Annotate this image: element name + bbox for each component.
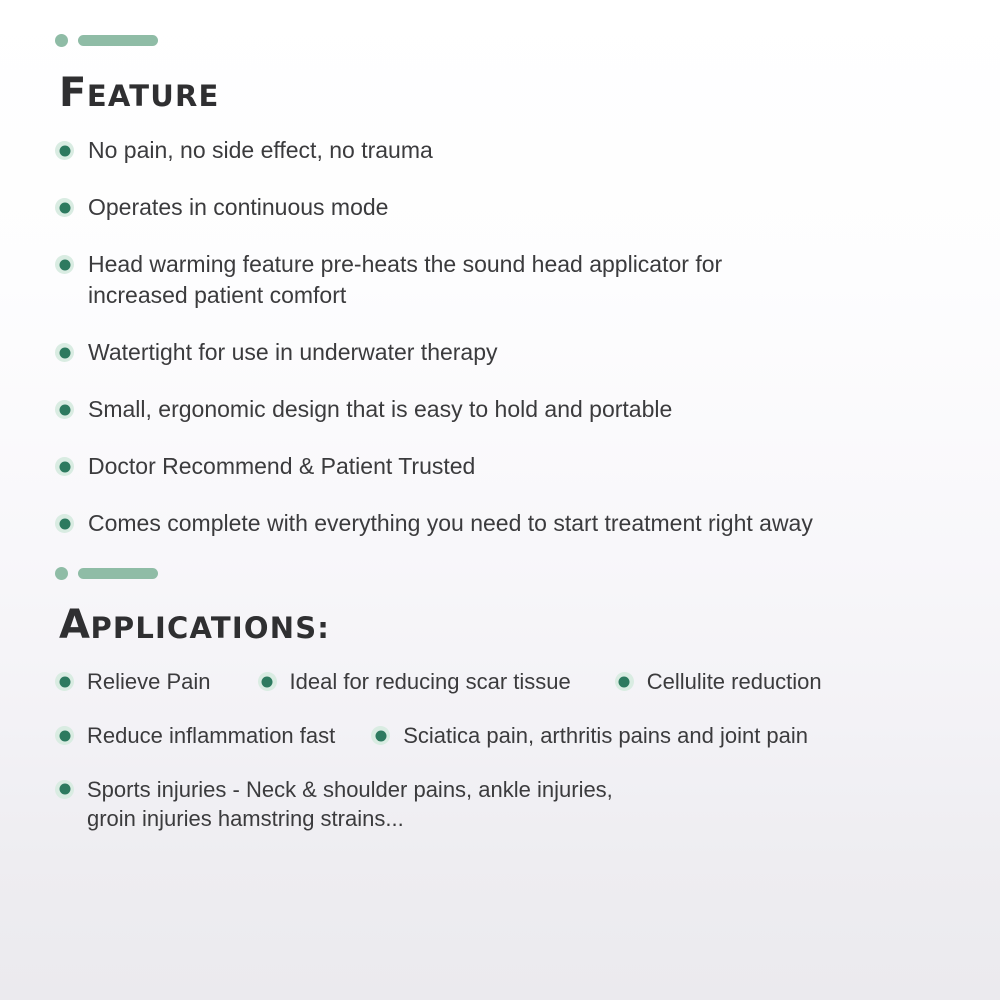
application-item-text: Ideal for reducing scar tissue	[290, 667, 571, 697]
list-item: Operates in continuous mode	[55, 192, 970, 223]
application-item-text: Sciatica pain, arthritis pains and joint…	[403, 721, 808, 751]
feature-title-initial: F	[59, 70, 87, 116]
list-item: Ideal for reducing scar tissue	[258, 667, 571, 697]
feature-item-text: Head warming feature pre-heats the sound…	[88, 249, 722, 311]
list-item: Watertight for use in underwater therapy	[55, 337, 970, 368]
bullet-icon	[55, 141, 74, 160]
feature-title: FEATURE	[59, 73, 970, 113]
feature-item-line1: Operates in continuous mode	[88, 194, 388, 220]
feature-item-line1: Comes complete with everything you need …	[88, 510, 813, 536]
feature-item-text: Comes complete with everything you need …	[88, 508, 813, 539]
applications-section: APPLICATIONS: Relieve Pain Ideal for red…	[55, 565, 970, 834]
applications-header-decoration	[55, 565, 970, 581]
list-item: Doctor Recommend & Patient Trusted	[55, 451, 970, 482]
applications-title-rest: PPLICATIONS:	[90, 611, 330, 645]
decoration-dot-icon	[55, 567, 68, 580]
bullet-icon	[55, 672, 74, 691]
applications-list: Relieve Pain Ideal for reducing scar tis…	[55, 667, 970, 834]
feature-item-line1: Small, ergonomic design that is easy to …	[88, 396, 672, 422]
bullet-icon	[55, 343, 74, 362]
list-item: Relieve Pain	[55, 667, 211, 697]
applications-title-initial: A	[59, 602, 90, 648]
list-item: Sciatica pain, arthritis pains and joint…	[371, 721, 808, 751]
bullet-icon	[55, 780, 74, 799]
feature-item-line1: No pain, no side effect, no trauma	[88, 137, 433, 163]
application-item-line1: Sports injuries - Neck & shoulder pains,…	[87, 777, 613, 802]
application-item-text: Sports injuries - Neck & shoulder pains,…	[87, 775, 613, 834]
list-item: Sports injuries - Neck & shoulder pains,…	[55, 775, 613, 834]
applications-title: APPLICATIONS:	[59, 605, 970, 645]
list-item: Comes complete with everything you need …	[55, 508, 970, 539]
application-item-text: Relieve Pain	[87, 667, 211, 697]
feature-title-rest: EATURE	[87, 79, 220, 113]
feature-item-text: Operates in continuous mode	[88, 192, 388, 223]
bullet-icon	[371, 726, 390, 745]
bullet-icon	[55, 255, 74, 274]
feature-section: FEATURE No pain, no side effect, no trau…	[55, 32, 970, 539]
feature-list: No pain, no side effect, no trauma Opera…	[55, 135, 970, 539]
application-item-text: Cellulite reduction	[647, 667, 822, 697]
feature-item-line2: increased patient comfort	[88, 280, 722, 311]
feature-item-text: No pain, no side effect, no trauma	[88, 135, 433, 166]
applications-row: Relieve Pain Ideal for reducing scar tis…	[55, 667, 970, 697]
feature-item-text: Doctor Recommend & Patient Trusted	[88, 451, 475, 482]
bullet-icon	[55, 457, 74, 476]
feature-item-text: Watertight for use in underwater therapy	[88, 337, 498, 368]
bullet-icon	[615, 672, 634, 691]
bullet-icon	[55, 514, 74, 533]
list-item: Cellulite reduction	[615, 667, 822, 697]
feature-item-line1: Watertight for use in underwater therapy	[88, 339, 498, 365]
applications-row: Reduce inflammation fast Sciatica pain, …	[55, 721, 970, 751]
bullet-icon	[55, 198, 74, 217]
product-info-page: FEATURE No pain, no side effect, no trau…	[0, 0, 1000, 1000]
bullet-icon	[55, 726, 74, 745]
list-item: Head warming feature pre-heats the sound…	[55, 249, 970, 311]
bullet-icon	[55, 400, 74, 419]
decoration-bar-icon	[78, 35, 158, 46]
bullet-icon	[258, 672, 277, 691]
feature-header-decoration	[55, 32, 970, 48]
feature-item-line1: Head warming feature pre-heats the sound…	[88, 251, 722, 277]
decoration-bar-icon	[78, 568, 158, 579]
applications-row: Sports injuries - Neck & shoulder pains,…	[55, 775, 970, 834]
list-item: Reduce inflammation fast	[55, 721, 335, 751]
decoration-dot-icon	[55, 34, 68, 47]
list-item: No pain, no side effect, no trauma	[55, 135, 970, 166]
feature-item-text: Small, ergonomic design that is easy to …	[88, 394, 672, 425]
application-item-line2: groin injuries hamstring strains...	[87, 804, 613, 834]
application-item-text: Reduce inflammation fast	[87, 721, 335, 751]
list-item: Small, ergonomic design that is easy to …	[55, 394, 970, 425]
feature-item-line1: Doctor Recommend & Patient Trusted	[88, 453, 475, 479]
